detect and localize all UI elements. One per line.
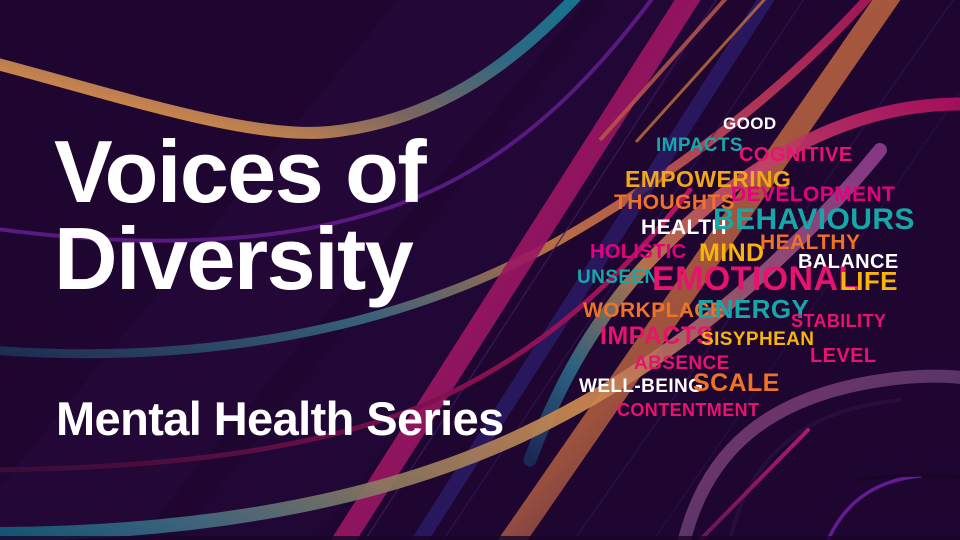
cloud-word: GOOD xyxy=(723,115,777,132)
cloud-word: COGNITIVE xyxy=(739,145,853,165)
cloud-word: LEVEL xyxy=(810,346,876,366)
slide-canvas: Voices of Diversity Mental Health Series… xyxy=(0,0,960,540)
title-line-2: Diversity xyxy=(54,215,614,302)
cloud-word: LIFE xyxy=(840,268,898,294)
subtitle: Mental Health Series xyxy=(56,391,504,446)
cloud-word: UNSEEN xyxy=(577,268,659,287)
title-line-1: Voices of xyxy=(54,128,614,215)
cloud-word: WELL-BEING xyxy=(579,377,703,396)
cloud-word: HEALTHY xyxy=(760,232,860,253)
cloud-word: DEVELOPMENT xyxy=(731,184,895,205)
cloud-word: STABILITY xyxy=(791,312,886,330)
cloud-word: SCALE xyxy=(693,371,780,396)
cloud-word: CONTENTMENT xyxy=(617,401,759,419)
cloud-word: IMPACTS xyxy=(656,136,743,155)
word-cloud: GOODIMPACTSCOGNITIVEEMPOWERINGTHOUGHTSDE… xyxy=(560,100,960,430)
cloud-word: EMOTIONAL xyxy=(652,262,860,296)
page-title: Voices of Diversity xyxy=(54,128,614,302)
cloud-word: IMPACTS xyxy=(600,324,713,349)
cloud-word: HOLISTIC xyxy=(590,242,687,262)
cloud-word: SISYPHEAN xyxy=(701,330,814,349)
